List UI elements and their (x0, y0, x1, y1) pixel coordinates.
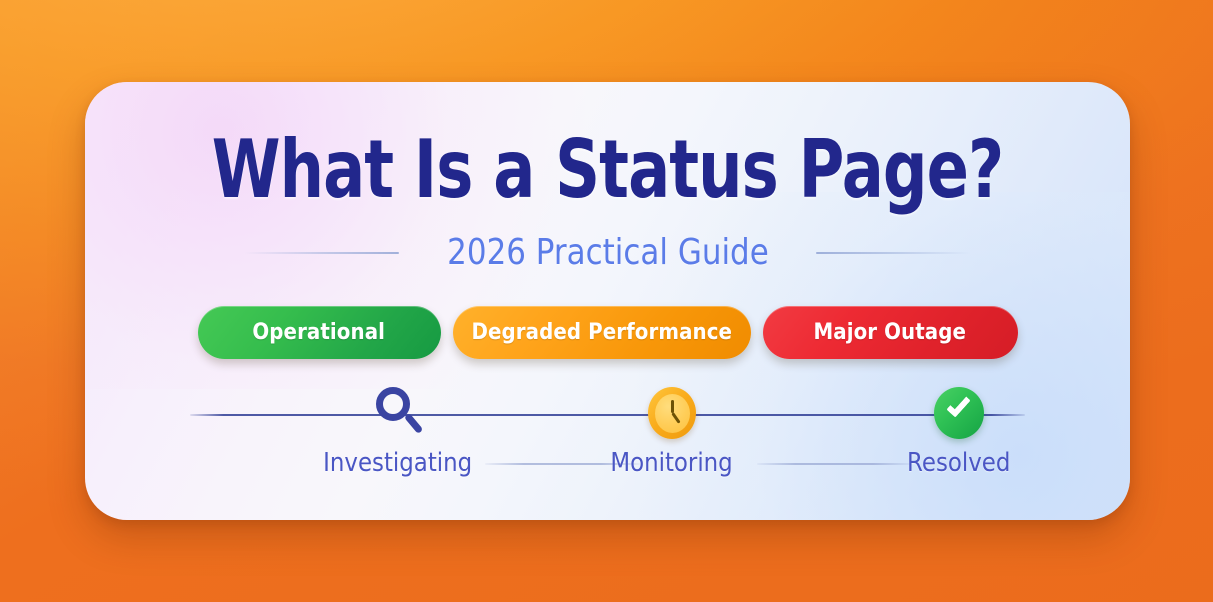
timeline-step-monitoring-label: Monitoring (611, 448, 733, 478)
subtitle-rule-right (816, 252, 971, 254)
page-title: What Is a Status Page? (200, 130, 1015, 210)
incident-timeline: Investigating Monitoring (85, 382, 1130, 502)
status-pill-operational[interactable]: Operational (198, 306, 441, 359)
status-pill-degraded-performance[interactable]: Degraded Performance (453, 306, 751, 359)
clock-face (655, 394, 690, 433)
status-pill-major-outage[interactable]: Major Outage (763, 306, 1018, 359)
timeline-step-resolved[interactable]: Resolved (859, 382, 1059, 478)
status-pill-row: Operational Degraded Performance Major O… (85, 306, 1130, 359)
status-pill-degraded-performance-label: Degraded Performance (471, 320, 732, 345)
timeline-step-investigating-label: Investigating (323, 448, 472, 478)
clock-hour-hand (671, 400, 674, 413)
check-mark (946, 392, 970, 417)
magnifier-icon (369, 382, 427, 444)
card-content: What Is a Status Page? 2026 Practical Gu… (85, 82, 1130, 520)
timeline-step-monitoring[interactable]: Monitoring (572, 382, 772, 478)
magnifier-handle (404, 413, 424, 434)
subtitle-row: 2026 Practical Guide (85, 230, 1130, 276)
status-pill-operational-label: Operational (253, 320, 386, 345)
timeline-step-investigating[interactable]: Investigating (298, 382, 498, 478)
clock-icon (643, 382, 701, 444)
status-page-card: What Is a Status Page? 2026 Practical Gu… (85, 82, 1130, 520)
status-pill-major-outage-label: Major Outage (814, 320, 967, 345)
page-subtitle: 2026 Practical Guide (447, 235, 769, 271)
check-circle-icon (930, 382, 988, 444)
subtitle-rule-left (244, 252, 399, 254)
poster-canvas: What Is a Status Page? 2026 Practical Gu… (0, 0, 1213, 602)
clock-minute-hand (671, 412, 680, 424)
timeline-step-resolved-label: Resolved (907, 448, 1010, 478)
